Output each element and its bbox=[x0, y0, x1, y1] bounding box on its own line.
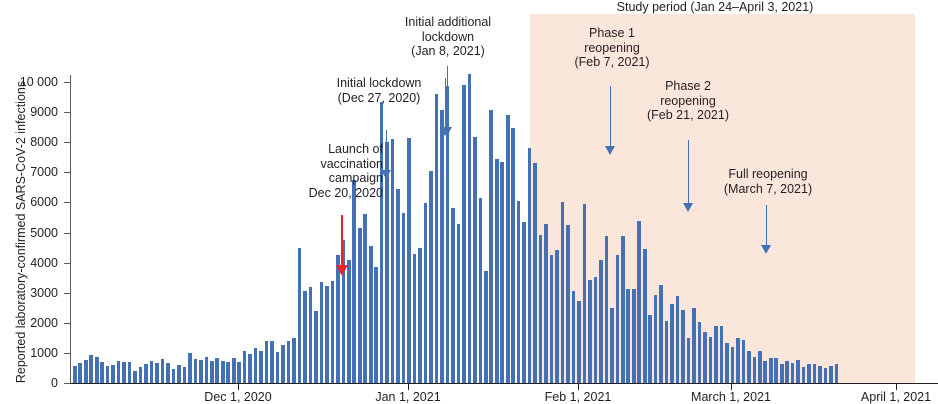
bar bbox=[780, 364, 784, 383]
annotation-line: lockdown bbox=[405, 30, 491, 45]
arrow-full-reopening bbox=[761, 205, 772, 254]
x-axis-line bbox=[70, 383, 938, 384]
bar bbox=[413, 254, 417, 383]
bar bbox=[73, 366, 77, 383]
annotation-line: (March 7, 2021) bbox=[724, 182, 812, 197]
bar bbox=[243, 351, 247, 383]
y-axis-tick bbox=[64, 293, 70, 294]
bar bbox=[687, 338, 691, 383]
x-axis-tick-label: Jan 1, 2021 bbox=[375, 391, 440, 404]
bar bbox=[188, 353, 192, 383]
bar bbox=[248, 354, 252, 383]
bar bbox=[654, 295, 658, 383]
bar bbox=[533, 163, 537, 383]
bar bbox=[232, 358, 236, 383]
bar bbox=[670, 304, 674, 383]
annotation-vaccination-campaign: Launch of vaccination campaign Dec 20, 2… bbox=[283, 142, 383, 200]
bar bbox=[122, 362, 126, 383]
bar bbox=[254, 348, 258, 383]
bar bbox=[643, 249, 647, 383]
bar bbox=[511, 128, 515, 383]
bar bbox=[237, 362, 241, 383]
annotation-line: vaccination bbox=[283, 157, 383, 172]
annotation-line: Phase 1 bbox=[574, 26, 649, 41]
bar bbox=[681, 310, 685, 383]
y-axis-tick bbox=[64, 353, 70, 354]
bar bbox=[462, 85, 466, 383]
bar bbox=[352, 180, 356, 383]
bar bbox=[347, 260, 351, 383]
bar bbox=[215, 358, 219, 383]
bar bbox=[287, 341, 291, 383]
bar bbox=[720, 326, 724, 383]
y-axis-tick-label: 6000 bbox=[0, 196, 58, 209]
bar bbox=[484, 271, 488, 383]
bar bbox=[298, 248, 302, 383]
annotation-line: Launch of bbox=[283, 142, 383, 157]
bar bbox=[139, 367, 143, 383]
bar bbox=[835, 364, 839, 383]
bar bbox=[183, 367, 187, 383]
bar bbox=[166, 363, 170, 383]
bar bbox=[177, 365, 181, 383]
bar bbox=[95, 357, 99, 383]
bar bbox=[210, 361, 214, 383]
y-axis-tick-label: 1000 bbox=[0, 347, 58, 360]
bar bbox=[665, 321, 669, 383]
x-axis-tick-label: March 1, 2021 bbox=[691, 391, 771, 404]
bar bbox=[495, 159, 499, 383]
bar bbox=[418, 248, 422, 383]
bar bbox=[632, 289, 636, 383]
bar bbox=[161, 359, 165, 383]
bar bbox=[648, 315, 652, 383]
bar bbox=[676, 296, 680, 383]
y-axis-tick-label: 2000 bbox=[0, 317, 58, 330]
bar bbox=[133, 371, 137, 383]
annotation-line: (Feb 7, 2021) bbox=[574, 55, 649, 70]
bar bbox=[363, 214, 367, 383]
bar bbox=[424, 203, 428, 383]
bar bbox=[621, 236, 625, 383]
bar bbox=[226, 362, 230, 383]
bar bbox=[479, 198, 483, 383]
y-axis-tick bbox=[64, 383, 70, 384]
arrow-additional-lockdown bbox=[442, 66, 453, 136]
annotation-line: campaign bbox=[283, 171, 383, 186]
bar bbox=[489, 110, 493, 383]
bar bbox=[594, 277, 598, 383]
bar bbox=[763, 361, 767, 383]
bar bbox=[314, 311, 318, 383]
bar bbox=[528, 148, 532, 383]
y-axis-tick-labels: 010002000300040005000600070008000900010 … bbox=[0, 0, 62, 403]
bar bbox=[473, 137, 477, 383]
bar bbox=[824, 368, 828, 383]
y-axis-tick bbox=[64, 233, 70, 234]
y-axis-line bbox=[70, 75, 71, 384]
x-axis-tick bbox=[578, 383, 579, 390]
bar bbox=[802, 367, 806, 383]
x-axis-tick bbox=[408, 383, 409, 390]
bar bbox=[725, 343, 729, 383]
bar bbox=[561, 202, 565, 383]
bar bbox=[265, 341, 269, 383]
bar bbox=[791, 363, 795, 383]
bar bbox=[599, 260, 603, 383]
bar bbox=[736, 338, 740, 383]
y-axis-tick bbox=[64, 263, 70, 264]
annotation-line: Full reopening bbox=[724, 167, 812, 182]
annotation-line: reopening bbox=[647, 94, 729, 109]
bar bbox=[692, 308, 696, 383]
bar bbox=[774, 358, 778, 383]
bar bbox=[111, 365, 115, 383]
bar bbox=[89, 355, 93, 383]
y-axis-tick-label: 10 000 bbox=[0, 76, 58, 89]
bar bbox=[796, 360, 800, 383]
bar bbox=[369, 246, 373, 383]
bar bbox=[753, 357, 757, 383]
bar bbox=[813, 364, 817, 383]
bar bbox=[194, 359, 198, 383]
annotation-initial-lockdown: Initial lockdown (Dec 27, 2020) bbox=[337, 76, 422, 105]
bar bbox=[440, 110, 444, 383]
annotation-line: Phase 2 bbox=[647, 79, 729, 94]
bar bbox=[758, 351, 762, 383]
bar bbox=[78, 363, 82, 383]
y-axis-tick-label: 5000 bbox=[0, 227, 58, 240]
y-axis-title: Reported laboratory-confirmed SARS-CoV-2… bbox=[14, 72, 28, 392]
bar bbox=[270, 341, 274, 383]
bar bbox=[429, 171, 433, 384]
bar bbox=[205, 357, 209, 383]
arrow-vaccination-date-marker bbox=[336, 215, 348, 276]
bar bbox=[128, 362, 132, 383]
bar bbox=[566, 225, 570, 383]
bar bbox=[468, 74, 472, 383]
annotation-line: Initial additional bbox=[405, 15, 491, 30]
x-axis-tick-label: Feb 1, 2021 bbox=[545, 391, 612, 404]
annotation-line: reopening bbox=[574, 41, 649, 56]
y-axis-tick-label: 7000 bbox=[0, 166, 58, 179]
bar bbox=[698, 322, 702, 383]
bar bbox=[396, 189, 400, 383]
bar bbox=[303, 291, 307, 383]
arrow-vaccination-campaign bbox=[381, 130, 392, 179]
annotation-phase-1-reopening: Phase 1 reopening (Feb 7, 2021) bbox=[574, 26, 649, 70]
y-axis-tick-label: 4000 bbox=[0, 257, 58, 270]
y-axis-tick bbox=[64, 172, 70, 173]
bar bbox=[818, 366, 822, 383]
bar bbox=[309, 287, 313, 383]
bar bbox=[539, 235, 543, 383]
x-axis-tick bbox=[238, 383, 239, 390]
y-axis-tick bbox=[64, 142, 70, 143]
bar bbox=[292, 338, 296, 383]
annotation-line: (Feb 21, 2021) bbox=[647, 108, 729, 123]
y-axis-tick bbox=[64, 323, 70, 324]
bar bbox=[435, 94, 439, 383]
bar bbox=[150, 361, 154, 383]
y-axis-tick-label: 8000 bbox=[0, 136, 58, 149]
bar bbox=[407, 138, 411, 383]
y-axis-tick-label: 9000 bbox=[0, 106, 58, 119]
y-axis-tick bbox=[64, 112, 70, 113]
bar bbox=[747, 351, 751, 384]
bar bbox=[221, 361, 225, 383]
bar bbox=[731, 347, 735, 383]
x-axis-tick bbox=[896, 383, 897, 390]
y-axis-tick-label: 0 bbox=[0, 377, 58, 390]
bar bbox=[517, 201, 521, 383]
bar bbox=[457, 224, 461, 383]
bar bbox=[626, 289, 630, 383]
bar bbox=[659, 285, 663, 383]
bar bbox=[583, 204, 587, 383]
bar bbox=[742, 340, 746, 383]
annotation-phase-2-reopening: Phase 2 reopening (Feb 21, 2021) bbox=[647, 79, 729, 123]
bar bbox=[555, 250, 559, 383]
bar bbox=[100, 362, 104, 383]
bar bbox=[500, 162, 504, 383]
arrow-phase-1-reopening bbox=[605, 86, 616, 155]
bar bbox=[807, 364, 811, 383]
bar bbox=[144, 364, 148, 383]
y-axis-tick-label: 3000 bbox=[0, 287, 58, 300]
bar bbox=[117, 361, 121, 383]
bar bbox=[331, 281, 335, 383]
x-axis-tick-label: April 1, 2021 bbox=[861, 391, 931, 404]
bar bbox=[829, 366, 833, 383]
bar bbox=[577, 301, 581, 383]
bar bbox=[84, 360, 88, 383]
bar-series bbox=[0, 0, 938, 403]
bar bbox=[506, 115, 510, 383]
bar bbox=[703, 332, 707, 383]
y-axis-tick bbox=[64, 202, 70, 203]
bar bbox=[714, 326, 718, 383]
bar bbox=[616, 255, 620, 383]
annotation-additional-lockdown: Initial additional lockdown (Jan 8, 2021… bbox=[405, 15, 491, 59]
arrow-phase-2-reopening bbox=[683, 140, 694, 212]
bar bbox=[572, 291, 576, 383]
annotation-line: (Dec 27, 2020) bbox=[337, 91, 422, 106]
bar bbox=[276, 352, 280, 383]
bar bbox=[588, 280, 592, 383]
bar bbox=[106, 366, 110, 383]
bar bbox=[320, 282, 324, 383]
bar bbox=[325, 286, 329, 383]
bar bbox=[374, 267, 378, 383]
bar bbox=[259, 351, 263, 383]
x-axis-tick bbox=[731, 383, 732, 390]
bar bbox=[709, 337, 713, 383]
bar bbox=[605, 236, 609, 383]
bar bbox=[522, 222, 526, 383]
bar bbox=[451, 208, 455, 383]
bar bbox=[402, 213, 406, 383]
annotation-line: (Jan 8, 2021) bbox=[405, 44, 491, 59]
bar bbox=[199, 360, 203, 383]
covid-case-chart-figure: Study period (Jan 24–April 3, 2021) 0100… bbox=[0, 0, 938, 403]
bar bbox=[281, 345, 285, 383]
bar bbox=[155, 363, 159, 383]
bar bbox=[610, 308, 614, 383]
bar bbox=[769, 358, 773, 383]
bar bbox=[637, 221, 641, 383]
bar bbox=[550, 255, 554, 383]
bar bbox=[785, 361, 789, 383]
y-axis-tick bbox=[64, 82, 70, 83]
bar bbox=[544, 224, 548, 383]
bar bbox=[172, 369, 176, 383]
annotation-line: Initial lockdown bbox=[337, 76, 422, 91]
annotation-line: Dec 20, 2020 bbox=[283, 186, 383, 201]
annotation-full-reopening: Full reopening (March 7, 2021) bbox=[724, 167, 812, 196]
x-axis-tick-label: Dec 1, 2020 bbox=[204, 391, 271, 404]
bar bbox=[358, 228, 362, 383]
